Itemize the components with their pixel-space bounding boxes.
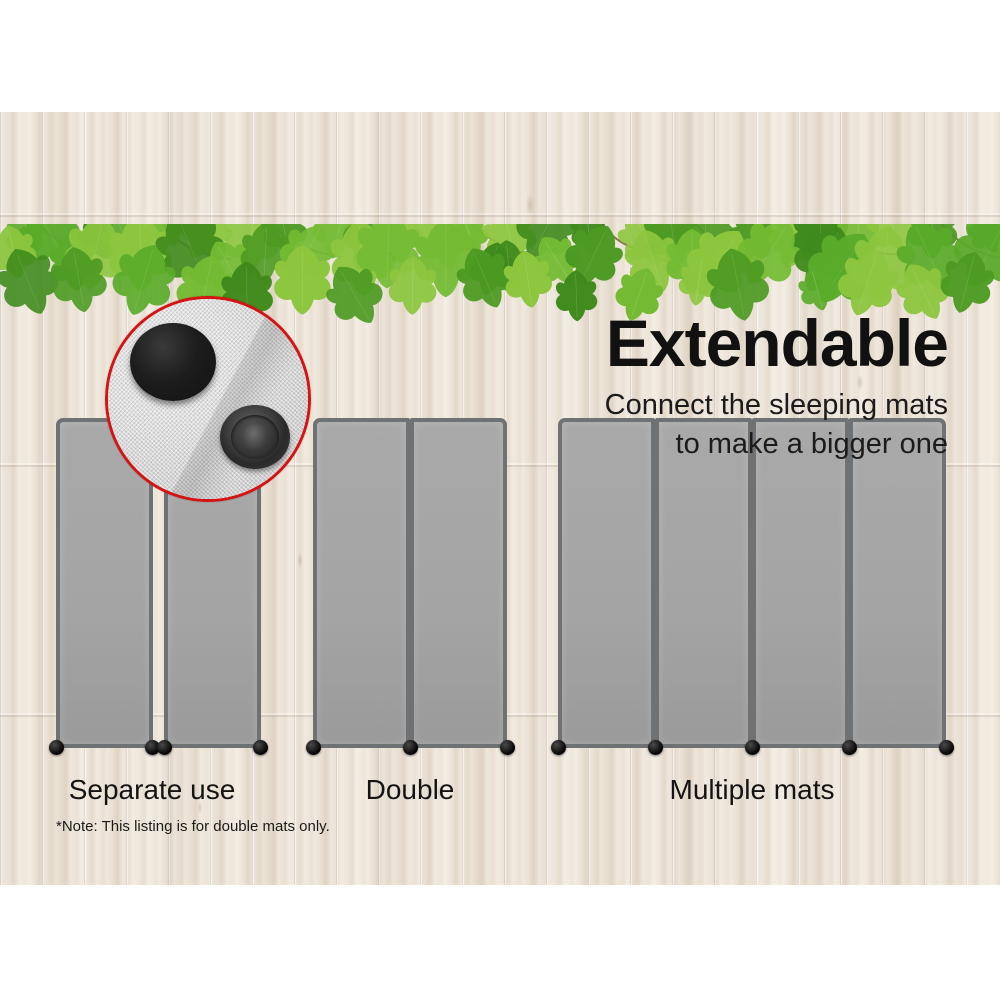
snap-fastener-inset [105,296,311,502]
sleeping-mat [313,418,410,748]
sleeping-mat [655,418,752,748]
sleeping-mat [410,418,507,748]
wood-background-panel: Separate useDoubleMultiple mats *Note: T… [0,112,1000,885]
page-title: Extendable [528,310,948,376]
snap-dot [49,740,64,755]
infographic-canvas: Separate useDoubleMultiple mats *Note: T… [0,0,1000,1000]
subtitle-line-1: Connect the sleeping mats [528,386,948,425]
mat-group-3 [558,418,946,748]
snap-socket-ring-icon [220,405,290,469]
mat-group-2 [313,418,507,748]
snap-dot [403,740,418,755]
heading-block: Extendable Connect the sleeping mats to … [528,310,948,463]
snap-dot [253,740,268,755]
sleeping-mat [752,418,849,748]
page-subtitle: Connect the sleeping mats to make a bigg… [528,386,948,463]
snap-dot [842,740,857,755]
mat-group-caption: Multiple mats [552,774,952,806]
sleeping-mat [849,418,946,748]
sleeping-mat [558,418,655,748]
snap-dot [157,740,172,755]
disclaimer-note: *Note: This listing is for double mats o… [56,818,330,835]
fabric-texture [108,299,308,499]
snap-dot [648,740,663,755]
mat-group-caption: Double [210,774,610,806]
snap-dot [551,740,566,755]
snap-dot [745,740,760,755]
snap-dot [306,740,321,755]
subtitle-line-2: to make a bigger one [528,425,948,464]
snap-dot [939,740,954,755]
snap-button-dome-icon [130,323,216,401]
snap-dot [500,740,515,755]
